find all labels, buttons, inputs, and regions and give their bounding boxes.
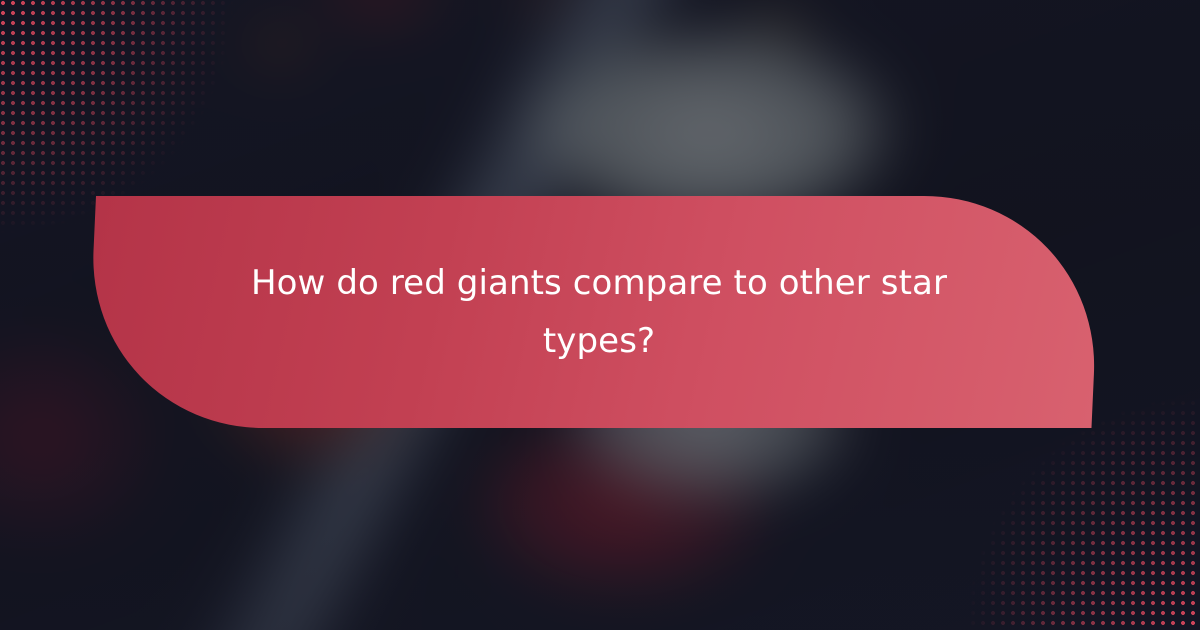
title-banner: How do red giants compare to other star …: [96, 196, 1102, 428]
share-card-canvas: How do red giants compare to other star …: [0, 0, 1200, 630]
title-banner-text-area: How do red giants compare to other star …: [96, 196, 1102, 428]
page-title: How do red giants compare to other star …: [249, 254, 949, 370]
